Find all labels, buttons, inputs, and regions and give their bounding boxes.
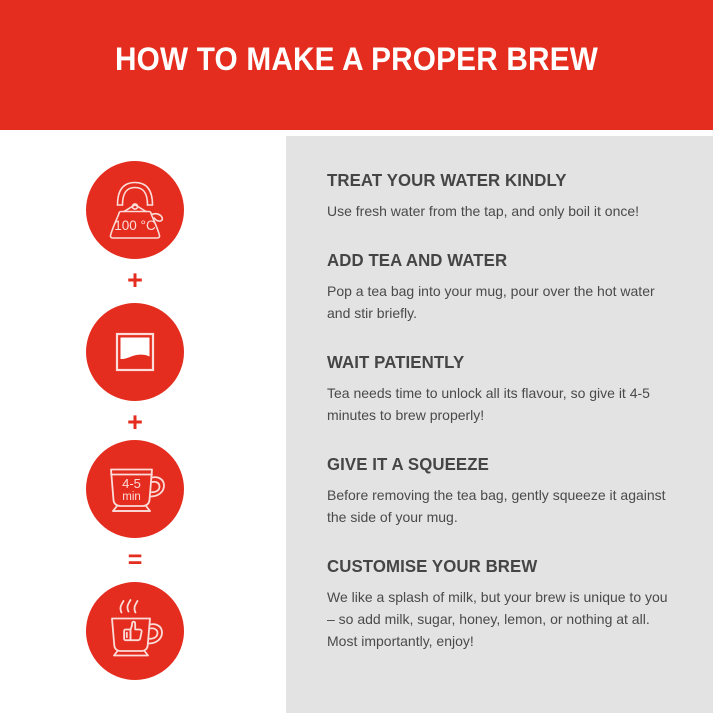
step-title: ADD TEA AND WATER: [327, 250, 673, 271]
step-body: Before removing the tea bag, gently sque…: [327, 484, 675, 528]
tea-bag-icon: [86, 303, 184, 401]
step-body: Pop a tea bag into your mug, pour over t…: [327, 280, 675, 324]
svg-text:min: min: [122, 491, 141, 503]
step-title: TREAT YOUR WATER KINDLY: [327, 170, 673, 191]
torn-edge-decoration: [0, 117, 713, 130]
step-title: WAIT PATIENTLY: [327, 352, 673, 373]
steaming-cup-thumbs-up-icon: [86, 582, 184, 680]
plus-connector: +: [86, 407, 184, 437]
svg-text:100 °C: 100 °C: [114, 218, 156, 233]
step-item: GIVE IT A SQUEEZE Before removing the te…: [327, 426, 687, 528]
svg-text:4-5: 4-5: [122, 476, 141, 491]
step-item: TREAT YOUR WATER KINDLY Use fresh water …: [327, 136, 687, 222]
step-body: We like a splash of milk, but your brew …: [327, 586, 675, 652]
infographic-poster: HOW TO MAKE A PROPER BREW: [0, 0, 713, 713]
step-item: CUSTOMISE YOUR BREW We like a splash of …: [327, 528, 687, 652]
icon-column: 100 °C + +: [0, 136, 286, 713]
step-item: ADD TEA AND WATER Pop a tea bag into you…: [327, 222, 687, 324]
step-title: GIVE IT A SQUEEZE: [327, 454, 673, 475]
steps-list: TREAT YOUR WATER KINDLY Use fresh water …: [327, 136, 687, 652]
header-banner: HOW TO MAKE A PROPER BREW: [0, 0, 713, 130]
plus-connector: +: [86, 265, 184, 295]
teacup-timer-icon: 4-5 min: [86, 440, 184, 538]
equals-connector: =: [86, 545, 184, 575]
step-title: CUSTOMISE YOUR BREW: [327, 556, 673, 577]
kettle-icon: 100 °C: [86, 161, 184, 259]
step-body: Tea needs time to unlock all its flavour…: [327, 382, 675, 426]
step-body: Use fresh water from the tap, and only b…: [327, 200, 675, 222]
step-item: WAIT PATIENTLY Tea needs time to unlock …: [327, 324, 687, 426]
page-title: HOW TO MAKE A PROPER BREW: [25, 0, 688, 118]
